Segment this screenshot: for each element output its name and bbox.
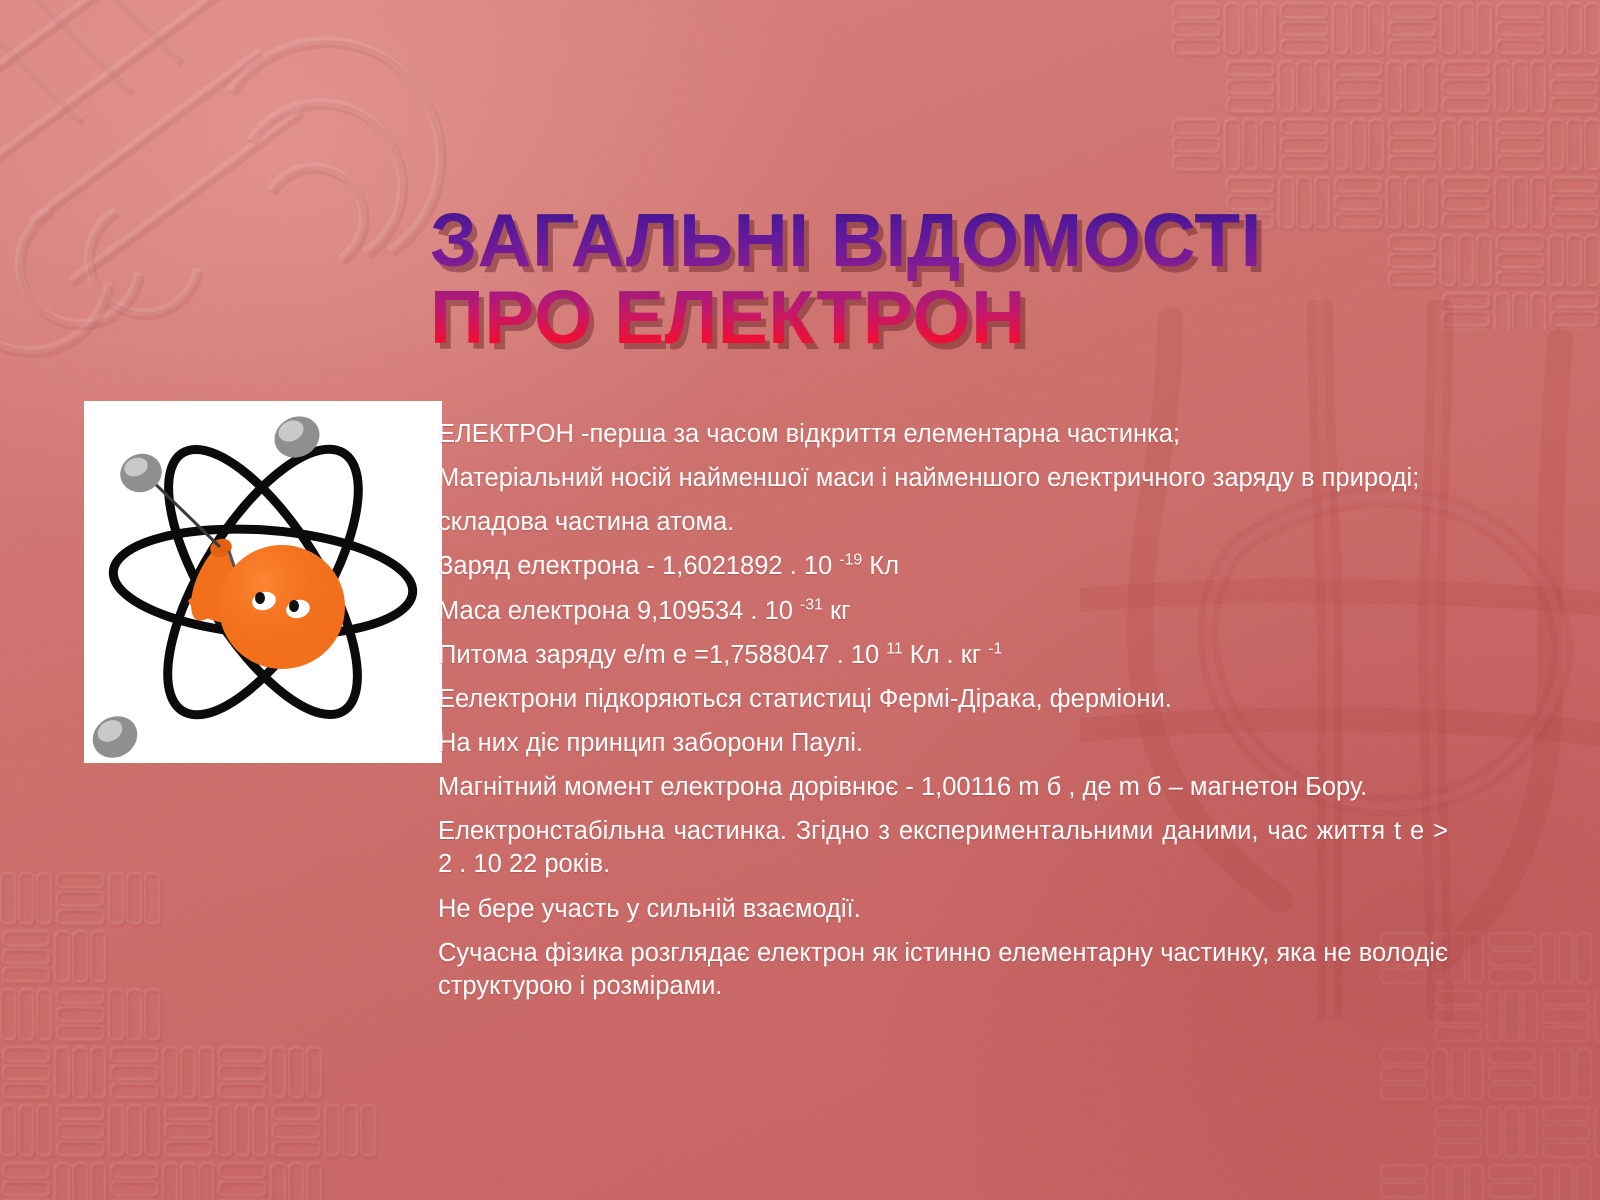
text-run: Матеріальний носій найменшої маси і найм…	[438, 464, 1419, 492]
body-line-pauli: На них діє принцип заборони Паулі.	[438, 727, 1448, 760]
atom-illustration	[84, 401, 442, 763]
body-line-magnetic-moment: Магнітний момент електрона дорівнює - 1,…	[438, 771, 1448, 804]
text-run: Маса електрона 9,109534 . 10	[438, 597, 800, 625]
superscript: 11	[886, 640, 902, 657]
body-line-definition: ЕЛЕКТРОН -перша за часом відкриття елеме…	[438, 418, 1448, 451]
body-line-component: складова частина атома.	[438, 506, 1448, 539]
body-line-stability: Електронстабільна частинка. Згідно з екс…	[438, 815, 1448, 881]
body-line-fermi-dirac: Еелектрони підкоряються статистиці Фермі…	[438, 683, 1448, 716]
text-run: Магнітний момент електрона дорівнює - 1,…	[438, 773, 1367, 801]
text-run: кг	[823, 597, 851, 625]
presentation-slide: ЗАГАЛЬНІ ВІДОМОСТІ ПРО ЕЛЕКТРОН	[0, 0, 1600, 1200]
text-run: ЕЛЕКТРОН -перша за часом відкриття елеме…	[438, 420, 1180, 448]
text-run: Кл . кг	[903, 641, 989, 669]
body-line-mass: Маса електрона 9,109534 . 10 -31 кг	[438, 595, 1448, 628]
superscript: -1	[988, 640, 1002, 657]
body-line-strong-interaction: Не бере участь у сильній взаємодії.	[438, 893, 1448, 926]
superscript: -31	[800, 596, 823, 613]
superscript: -19	[839, 552, 862, 569]
text-run: Питома заряду e/m e =1,7588047 . 10	[438, 641, 886, 669]
body-line-specific-charge: Питома заряду e/m e =1,7588047 . 10 11 К…	[438, 639, 1448, 672]
text-run: Електронстабільна частинка. Згідно з екс…	[438, 817, 1448, 878]
basket-weave-texture-bottomleft	[0, 870, 400, 1200]
text-run: Сучасна фізика розглядає електрон як іст…	[438, 939, 1448, 1000]
text-run: Кл	[862, 552, 899, 580]
text-run: Не бере участь у сильній взаємодії.	[438, 895, 861, 923]
text-run: складова частина атома.	[438, 508, 734, 536]
body-line-modern-physics: Сучасна фізика розглядає електрон як іст…	[438, 937, 1448, 1003]
slide-title: ЗАГАЛЬНІ ВІДОМОСТІ ПРО ЕЛЕКТРОН	[430, 202, 1490, 355]
slide-body-text: ЕЛЕКТРОН -перша за часом відкриття елеме…	[438, 418, 1448, 1014]
text-run: Еелектрони підкоряються статистиці Фермі…	[438, 685, 1172, 713]
text-run: На них діє принцип заборони Паулі.	[438, 729, 863, 757]
body-line-charge: Заряд електрона - 1,6021892 . 10 -19 Кл	[438, 550, 1448, 583]
body-line-carrier: Матеріальний носій найменшої маси і найм…	[438, 462, 1448, 495]
text-run: Заряд електрона - 1,6021892 . 10	[438, 552, 839, 580]
